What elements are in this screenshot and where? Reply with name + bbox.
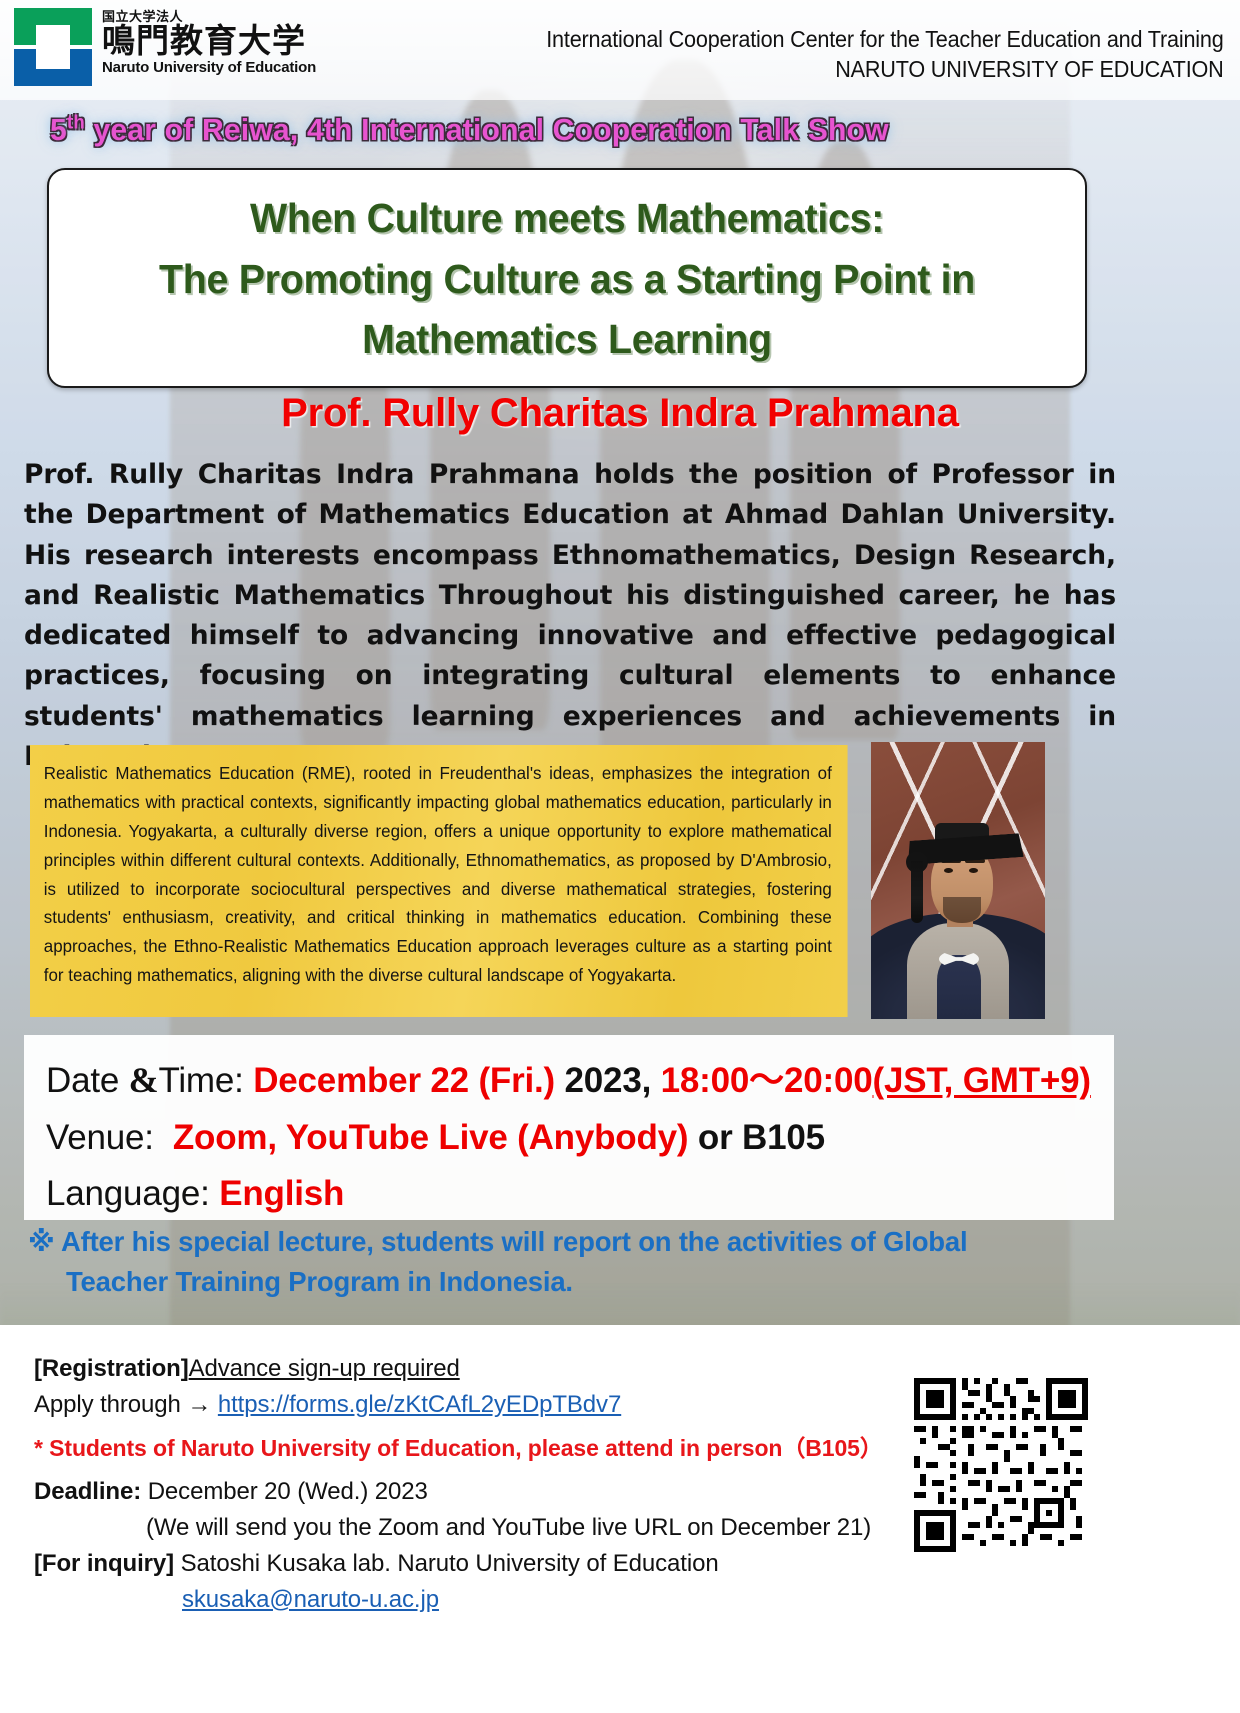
- venue-value-room: or B105: [698, 1118, 825, 1157]
- subtitle-ordinal-suffix: th: [67, 113, 85, 134]
- speaker-name: Prof. Rully Charitas Indra Prahmana: [0, 391, 1240, 436]
- venue-label: Venue:: [46, 1118, 154, 1157]
- language-value: English: [219, 1174, 344, 1213]
- title-line-1: When Culture meets Mathematics:: [91, 188, 1043, 249]
- photo-eye-right: [969, 868, 978, 873]
- date-value: December 22 (Fri.): [253, 1061, 555, 1100]
- inquiry-label: [For inquiry]: [34, 1550, 174, 1577]
- note-mark-icon: ※: [28, 1226, 55, 1258]
- logo-english: Naruto University of Education: [102, 60, 316, 75]
- photo-eye-left: [944, 868, 953, 873]
- title-line-2: The Promoting Culture as a Starting Poin…: [91, 249, 1043, 310]
- university-logo-icon: [14, 8, 92, 86]
- inquiry-value: Satoshi Kusaka lab. Naruto University of…: [181, 1550, 719, 1577]
- title-card: When Culture meets Mathematics: The Prom…: [47, 168, 1087, 388]
- deadline-value: December 20 (Wed.) 2023: [148, 1478, 428, 1505]
- timezone-value: (JST, GMT+9): [873, 1061, 1091, 1100]
- date-year: 2023,: [565, 1061, 652, 1100]
- qr-code-icon[interactable]: [914, 1378, 1088, 1552]
- detail-venue: Venue: Zoom, YouTube Live (Anybody) or B…: [46, 1110, 1114, 1167]
- speaker-portrait-photo: [871, 742, 1045, 1019]
- venue-value-online: Zoom, YouTube Live (Anybody): [173, 1118, 689, 1157]
- registration-label: [Registration]: [34, 1355, 189, 1382]
- language-label: Language:: [46, 1174, 210, 1213]
- note-line-2: Teacher Training Program in Indonesia.: [28, 1262, 1118, 1301]
- poster-root: 国立大学法人 鳴門教育大学 Naruto University of Educa…: [0, 0, 1240, 1713]
- apply-label: Apply through →: [34, 1391, 211, 1418]
- subtitle-rest: year of Reiwa, 4th International Coopera…: [85, 112, 889, 147]
- inquiry-email-link[interactable]: skusaka@naruto-u.ac.jp: [182, 1586, 439, 1613]
- apply-url-link[interactable]: https://forms.gle/zKtCAfL2yEDpTBdv7: [218, 1391, 621, 1418]
- logo-kanji-big: 鳴門教育大学: [102, 24, 316, 57]
- note-text-1: After his special lecture, students will…: [61, 1226, 967, 1257]
- university-logo: 国立大学法人 鳴門教育大学 Naruto University of Educa…: [14, 8, 316, 86]
- detail-datetime: Date &Time: December 22 (Fri.) 2023, 18:…: [46, 1051, 1114, 1110]
- note-line-1: ※ After his special lecture, students wi…: [28, 1222, 1118, 1262]
- subtitle-ordinal: 5: [50, 112, 67, 147]
- photo-tassel: [911, 861, 923, 923]
- header-line-1: International Cooperation Center for the…: [547, 24, 1224, 54]
- header-line-2: NARUTO UNIVERSITY OF EDUCATION: [547, 54, 1224, 84]
- title-line-3: Mathematics Learning: [91, 309, 1043, 370]
- logo-text: 国立大学法人 鳴門教育大学 Naruto University of Educa…: [102, 8, 316, 75]
- speaker-bio: Prof. Rully Charitas Indra Prahmana hold…: [24, 455, 1116, 777]
- time-value: 18:00〜20:00: [661, 1061, 873, 1100]
- detail-language: Language: English: [46, 1166, 1114, 1223]
- registration-value: Advance sign-up required: [189, 1355, 460, 1382]
- event-details: Date &Time: December 22 (Fri.) 2023, 18:…: [24, 1035, 1114, 1220]
- lecture-note: ※ After his special lecture, students wi…: [28, 1222, 1118, 1301]
- date-label: Date: [46, 1061, 119, 1100]
- time-label: Time:: [158, 1061, 243, 1100]
- inquiry-email-line: skusaka@naruto-u.ac.jp: [34, 1582, 1240, 1618]
- ampersand: &: [129, 1060, 159, 1100]
- page-header: 国立大学法人 鳴門教育大学 Naruto University of Educa…: [0, 0, 1240, 100]
- abstract-box: Realistic Mathematics Education (RME), r…: [30, 745, 848, 1017]
- photo-beard: [943, 897, 981, 923]
- header-center-name: International Cooperation Center for the…: [547, 24, 1224, 85]
- event-series-subtitle: 5th year of Reiwa, 4th International Coo…: [50, 112, 889, 148]
- deadline-label: Deadline:: [34, 1478, 141, 1505]
